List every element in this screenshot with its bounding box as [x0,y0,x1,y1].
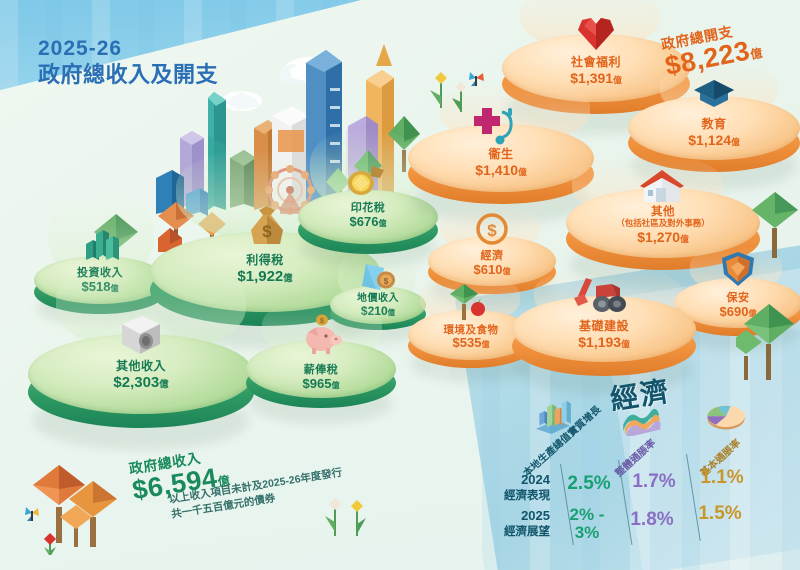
wave-ribbon-icon [620,402,662,436]
row-year-2025: 2025 [488,508,550,525]
revenue-disc-salaries-tax[interactable]: 薪俸稅 $965億 $ [246,340,396,424]
column-separator-3 [686,454,701,541]
infographic-canvas: 投資收入 $518億 利得稅 $1,922億 $ 印花稅 [0,0,800,570]
economy-summary-table: 經濟 本地生產總值實質增長 整體通脹率 基本通脹 [500,372,800,562]
cell-2024-headline-inflation: 1.7% [624,472,684,492]
title-text: 政府總收入及開支 [38,62,218,89]
cell-2024-gdp: 2.5% [558,474,620,494]
row-year-2024: 2024 [488,472,550,489]
expenditure-disc-education[interactable]: 教育 $1,124億 [628,96,800,190]
row-label-2025: 2025 經濟展望 [488,508,550,540]
pie-chart-3d-icon [705,400,747,434]
title-year: 2025-26 [38,36,218,62]
cell-2024-underlying-inflation: 1.1% [692,468,752,488]
revenue-disc-investment[interactable]: 投資收入 $518億 [34,256,166,326]
page-title: 2025-26 政府總收入及開支 [38,36,218,88]
row-text-2025: 經濟展望 [504,526,550,538]
cell-2025-underlying-inflation: 1.5% [690,504,750,524]
row-text-2024: 經濟表現 [504,490,550,502]
cell-2025-gdp: 2% - 3% [556,506,618,542]
cell-2025-headline-inflation: 1.8% [622,510,682,530]
expenditure-disc-other[interactable]: 其他 （包括社區及對外事務） $1,270億 [566,188,760,290]
revenue-disc-other-revenue[interactable]: 其他收入 $2,303億 [28,334,254,450]
row-label-2024: 2024 經濟表現 [488,472,550,504]
